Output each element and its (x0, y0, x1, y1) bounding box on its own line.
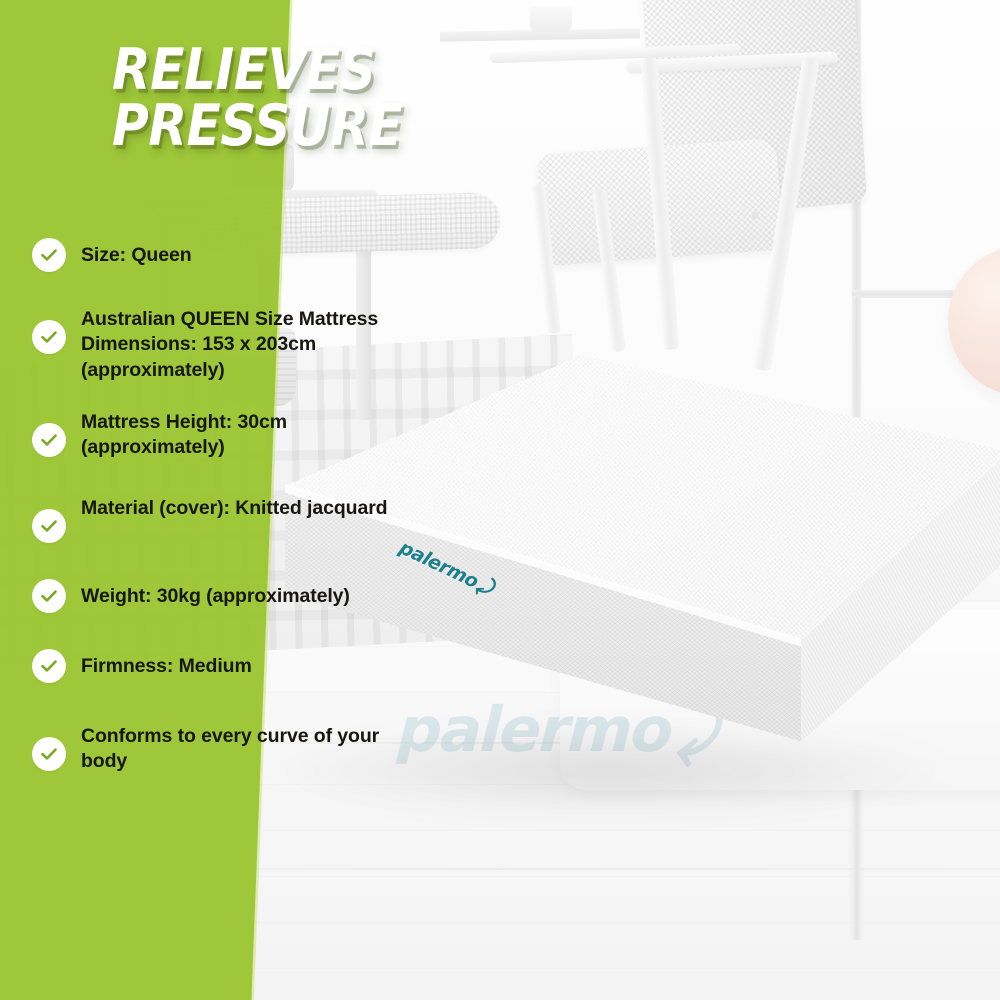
list-item-label: Size: Queen (81, 238, 192, 268)
list-item: Conforms to every curve of your body (32, 719, 424, 775)
check-circle-icon (32, 737, 66, 771)
list-item-label: Mattress Height: 30cm (approximately) (81, 405, 424, 461)
list-item-label: Firmness: Medium (81, 649, 252, 679)
page-title: RELIEVES PRESSURE (112, 42, 464, 155)
list-item: Mattress Height: 30cm (approximately) (32, 405, 424, 461)
list-item: Firmness: Medium (32, 649, 424, 683)
list-item: Australian QUEEN Size Mattress Dimension… (32, 302, 424, 383)
feature-list: Size: Queen Australian QUEEN Size Mattre… (32, 238, 424, 800)
list-item: Weight: 30kg (approximately) (32, 579, 424, 613)
check-circle-icon (32, 423, 66, 457)
product-feature-banner: palermo⤸ palermo⤸ RELIEVES PRESSURE Size… (0, 0, 1000, 1000)
list-item-label: Weight: 30kg (approximately) (81, 579, 350, 609)
list-item: Size: Queen (32, 238, 424, 272)
list-item-label: Australian QUEEN Size Mattress Dimension… (81, 302, 424, 383)
armchair (540, 0, 960, 370)
check-circle-icon (32, 238, 66, 272)
check-circle-icon (32, 649, 66, 683)
list-item: Material (cover): Knitted jacquard (32, 491, 424, 543)
check-circle-icon (32, 320, 66, 354)
list-item-label: Conforms to every curve of your body (81, 719, 424, 775)
check-circle-icon (32, 579, 66, 613)
list-item-label: Material (cover): Knitted jacquard (81, 491, 388, 521)
check-circle-icon (32, 509, 66, 543)
